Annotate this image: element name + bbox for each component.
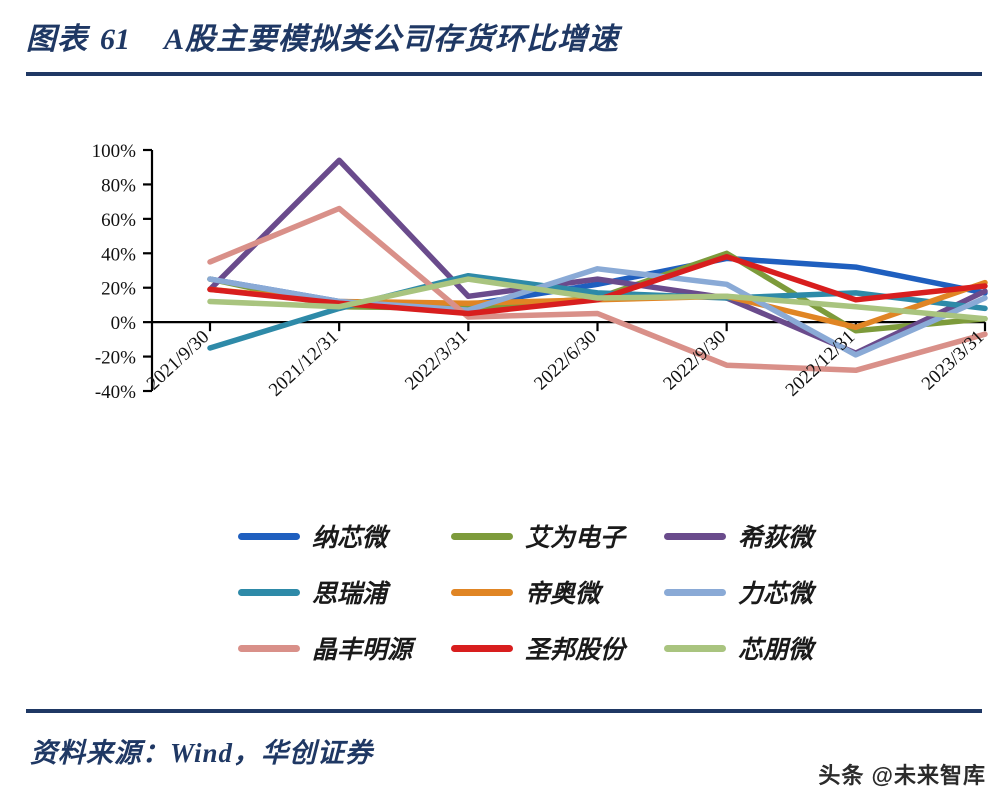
legend-item-label: 纳芯微 [312,518,387,554]
legend-item-艾为电子[interactable]: 艾为电子 [451,518,664,554]
footer-divider [26,709,982,713]
legend-swatch-icon [451,645,513,652]
legend-row: 思瑞浦帝奥微力芯微 [238,564,878,620]
legend-item-希荻微[interactable]: 希荻微 [664,518,877,554]
x-tick-labels: 2021/9/302021/12/312022/3/312022/6/30202… [143,326,989,400]
figure-number: 61 [100,23,130,57]
legend-item-label: 思瑞浦 [312,574,387,610]
x-tick-label: 2022/6/30 [530,326,601,394]
y-tick-label: 60% [101,210,136,231]
y-tick-label: -40% [95,382,136,403]
legend-item-纳芯微[interactable]: 纳芯微 [238,518,451,554]
legend-swatch-icon [451,533,513,540]
chart-legend: 纳芯微艾为电子希荻微思瑞浦帝奥微力芯微晶丰明源圣邦股份芯朋微 [238,508,878,676]
legend-item-帝奥微[interactable]: 帝奥微 [451,574,664,610]
legend-item-晶丰明源[interactable]: 晶丰明源 [238,630,451,666]
legend-swatch-icon [238,645,300,652]
x-tick-label: 2023/3/31 [918,326,989,394]
legend-item-label: 芯朋微 [738,630,813,666]
y-tick-label: -20% [95,348,136,369]
legend-swatch-icon [238,533,300,540]
legend-row: 晶丰明源圣邦股份芯朋微 [238,620,878,676]
legend-swatch-icon [664,589,726,596]
y-tick-label: 40% [101,244,136,265]
figure-label: 图表 [26,14,88,58]
legend-row: 纳芯微艾为电子希荻微 [238,508,878,564]
legend-item-label: 力芯微 [738,574,813,610]
legend-item-思瑞浦[interactable]: 思瑞浦 [238,574,451,610]
legend-swatch-icon [664,533,726,540]
y-tick-label: 80% [101,175,136,196]
source-note: 资料来源：Wind，华创证券 [30,731,373,770]
y-tick-label: 100% [92,141,137,162]
legend-item-label: 艾为电子 [525,518,625,554]
page-title: 图表 61 A股主要模拟类公司存货环比增速 [26,14,619,58]
legend-item-label: 晶丰明源 [312,630,412,666]
x-tick-label: 2022/3/31 [401,326,472,394]
legend-swatch-icon [664,645,726,652]
legend-item-label: 圣邦股份 [525,630,625,666]
watermark: 头条 @未来智库 [818,758,986,790]
header-divider [26,72,982,76]
y-tick-label: 0% [111,313,137,334]
legend-swatch-icon [451,589,513,596]
legend-item-label: 希荻微 [738,518,813,554]
x-tick-label: 2021/9/30 [143,326,214,394]
line-chart: 100%80%60%40%20%0%-20%-40% 2021/9/302021… [0,96,1008,496]
legend-item-圣邦股份[interactable]: 圣邦股份 [451,630,664,666]
figure-title-text: A股主要模拟类公司存货环比增速 [164,14,619,58]
legend-item-label: 帝奥微 [525,574,600,610]
figure-page: 图表 61 A股主要模拟类公司存货环比增速 100%80%60%40%20%0%… [0,0,1008,808]
legend-item-力芯微[interactable]: 力芯微 [664,574,877,610]
figure-header: 图表 61 A股主要模拟类公司存货环比增速 [0,0,1008,92]
y-axis: 100%80%60%40%20%0%-20%-40% [92,141,152,403]
legend-item-芯朋微[interactable]: 芯朋微 [664,630,877,666]
x-tick-label: 2021/12/31 [265,326,343,400]
legend-swatch-icon [238,589,300,596]
y-tick-label: 20% [101,279,136,300]
